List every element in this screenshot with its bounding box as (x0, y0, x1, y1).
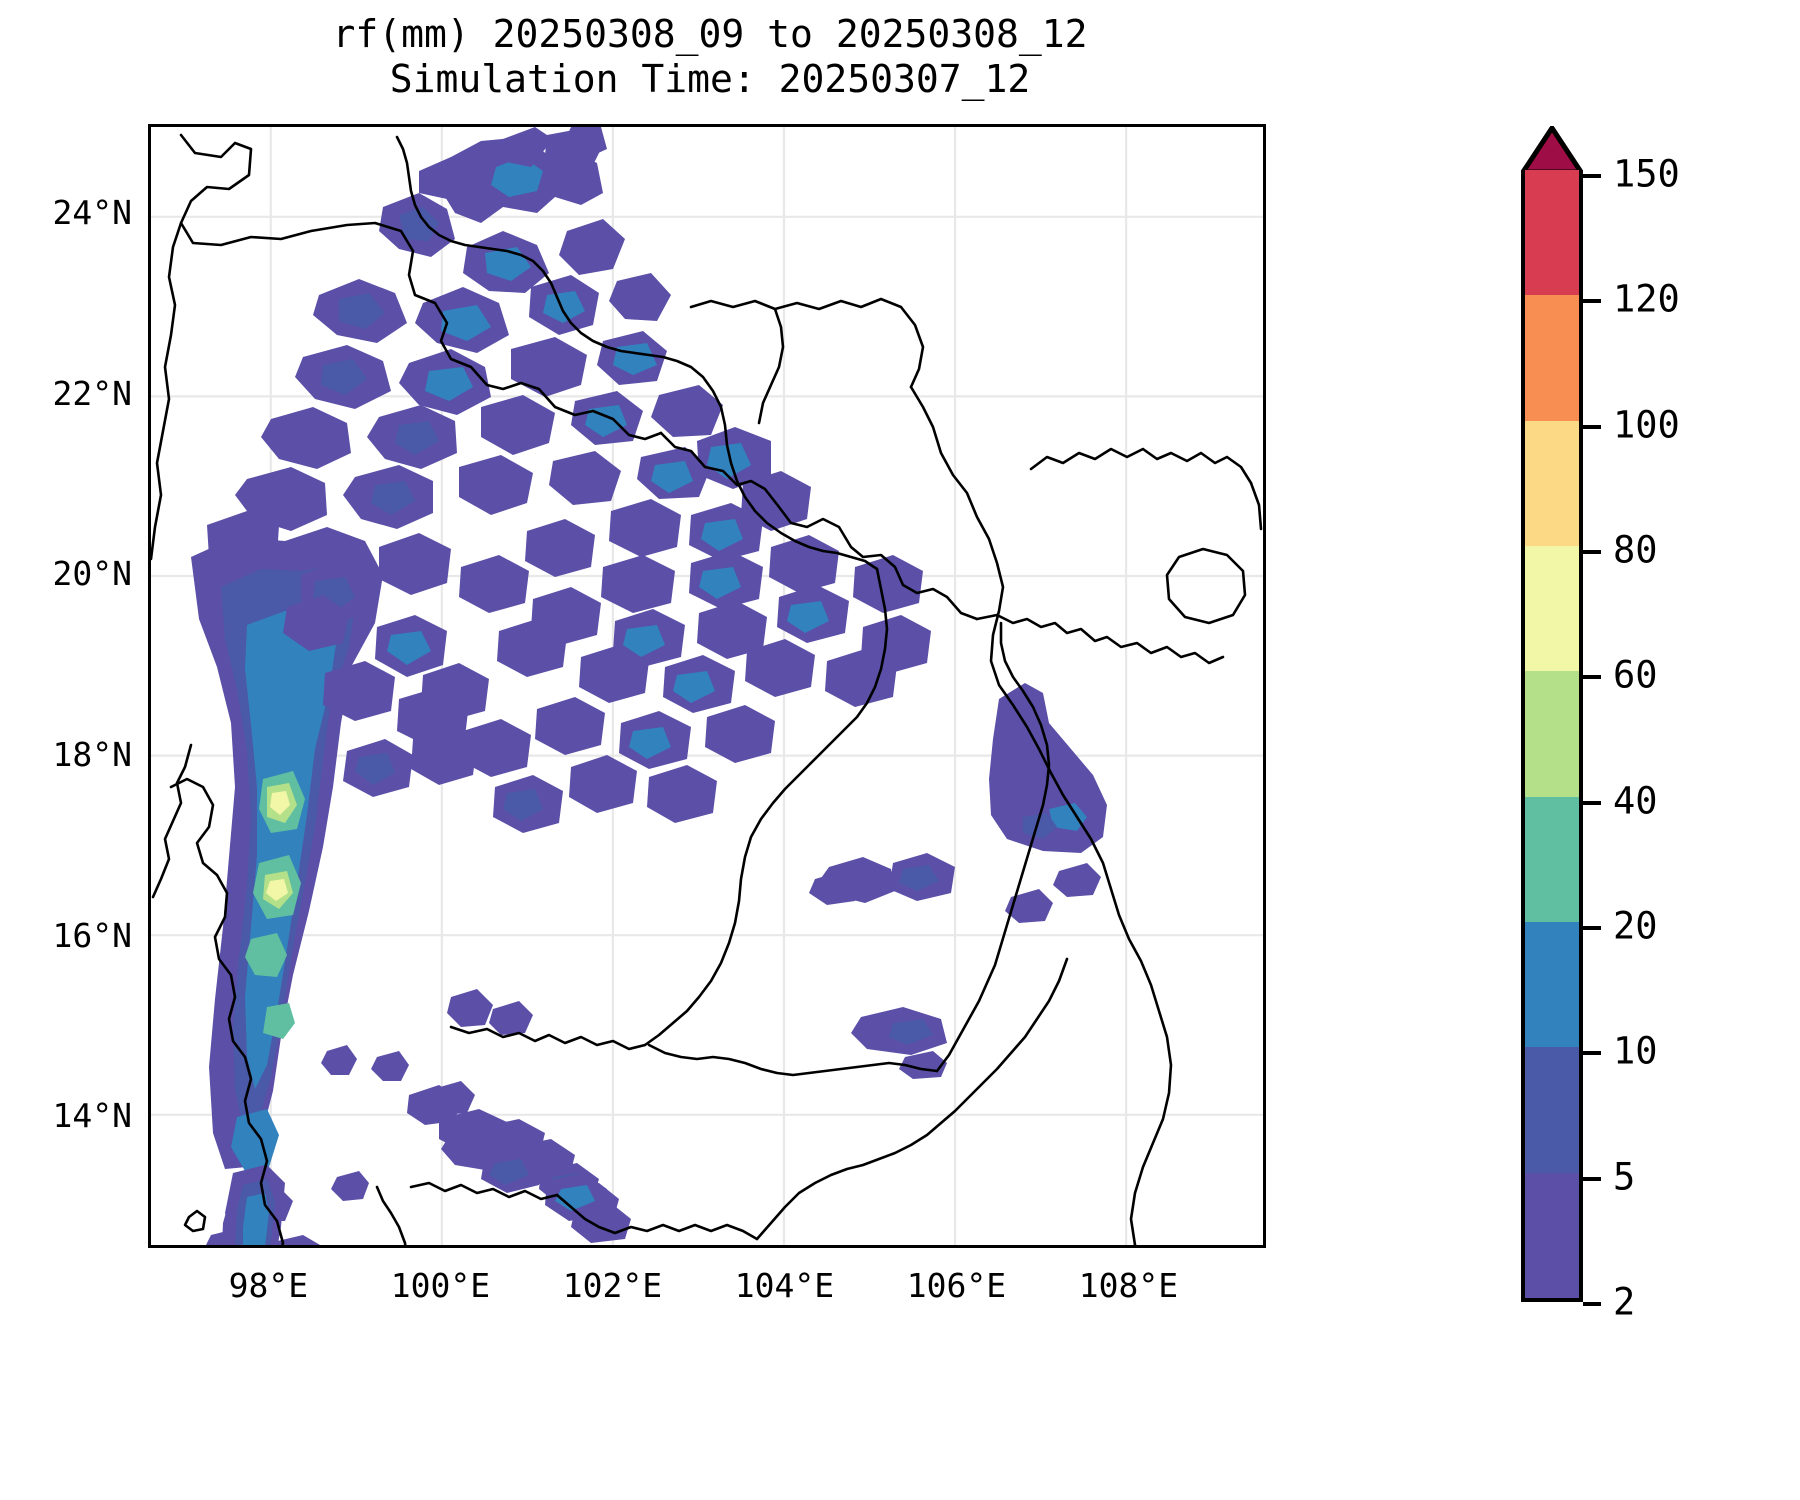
colorbar-band-60-80 (1525, 546, 1579, 671)
map-plot-area (148, 124, 1266, 1248)
map-clip (151, 127, 1263, 1245)
lon-tick-label-106: 106°E (866, 1266, 1046, 1305)
colorbar-tick-label-120: 120 (1613, 278, 1680, 321)
colorbar-band-2-5 (1525, 1173, 1579, 1298)
colorbar-tick-label-60: 60 (1613, 654, 1658, 697)
colorbar-tick-80 (1583, 550, 1601, 554)
colorbar-band-80-100 (1525, 421, 1579, 546)
colorbar[interactable]: 251020406080100120150 (1521, 126, 1583, 1302)
colorbar-band-100-120 (1525, 295, 1579, 420)
colorbar-tick-100 (1583, 425, 1601, 429)
rain-region-central-vietnam-coast (989, 683, 1107, 897)
colorbar-band-40-60 (1525, 671, 1579, 796)
lon-tick-label-104: 104°E (694, 1266, 874, 1305)
title-line-2: Simulation Time: 20250307_12 (0, 57, 1420, 102)
colorbar-tick-label-40: 40 (1613, 779, 1658, 822)
lat-tick-label-20: 20°N (0, 554, 132, 593)
lon-tick-label-98: 98°E (178, 1266, 358, 1305)
colorbar-tick-label-10: 10 (1613, 1030, 1658, 1073)
lat-tick-label-18: 18°N (0, 735, 132, 774)
figure-canvas: rf(mm) 20250308_09 to 20250308_12 Simula… (0, 0, 1800, 1500)
rain-region-tenasserim-coast (201, 1165, 285, 1245)
map-graphics (151, 127, 1263, 1245)
title-line-1: rf(mm) 20250308_09 to 20250308_12 (0, 12, 1420, 57)
rainfall-contours (151, 127, 1107, 1245)
colorbar-tick-label-20: 20 (1613, 905, 1658, 948)
lat-tick-label-22: 22°N (0, 374, 132, 413)
colorbar-tick-label-100: 100 (1613, 403, 1680, 446)
lat-tick-label-14: 14°N (0, 1096, 132, 1135)
rain-region-north-highlands (235, 129, 723, 531)
colorbar-over-arrow (1521, 126, 1583, 174)
colorbar-tick-label-2: 2 (1613, 1281, 1635, 1324)
figure-title: rf(mm) 20250308_09 to 20250308_12 Simula… (0, 12, 1420, 102)
lon-tick-label-100: 100°E (350, 1266, 530, 1305)
colorbar-tick-label-5: 5 (1613, 1155, 1635, 1198)
lon-tick-label-102: 102°E (522, 1266, 702, 1305)
colorbar-tick-10 (1583, 1051, 1601, 1055)
colorbar-band-20-40 (1525, 797, 1579, 922)
colorbar-tick-label-150: 150 (1613, 153, 1680, 196)
colorbar-tick-60 (1583, 675, 1601, 679)
colorbar-tick-5 (1583, 1177, 1601, 1181)
colorbar-band-5-10 (1525, 1047, 1579, 1172)
lat-tick-label-16: 16°N (0, 916, 132, 955)
colorbar-tick-40 (1583, 801, 1601, 805)
colorbar-band-10-20 (1525, 922, 1579, 1047)
lat-tick-label-24: 24°N (0, 193, 132, 232)
colorbar-tick-120 (1583, 299, 1601, 303)
colorbar-tick-20 (1583, 926, 1601, 930)
colorbar-tick-150 (1583, 174, 1601, 178)
colorbar-tick-label-80: 80 (1613, 529, 1658, 572)
colorbar-bands (1521, 174, 1583, 1302)
colorbar-band-120-150 (1525, 170, 1579, 295)
lon-tick-label-108: 108°E (1038, 1266, 1218, 1305)
colorbar-tick-2 (1583, 1302, 1601, 1306)
